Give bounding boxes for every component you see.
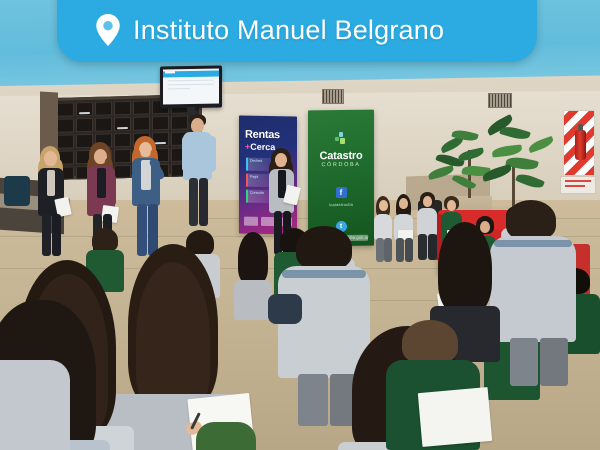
facebook-icon: f [336,187,347,198]
rollup-catastro-subtitle: CÓRDOBA [308,162,374,169]
event-photo: Rentas +Cerca Declará Pagá Consultá Cata… [0,0,600,450]
rollup-rentas-subtitle: +Cerca [245,143,275,153]
location-pin-icon [95,14,121,46]
wall-notice-sign [560,176,596,194]
monitor-screen-header [163,71,219,78]
rollup-catastro-handle: /catastrocba [308,202,374,208]
page-title: Instituto Manuel Belgrano [133,15,444,46]
wall-vent-right [488,93,512,108]
rollup-catastro-title: Catastro [308,150,374,163]
backpack [268,294,302,324]
left-chair [4,176,30,206]
wall-vent-center [322,89,344,104]
rollup-rentas-cerca: Cerca [250,142,275,152]
catastro-logo-icon [335,132,347,145]
location-title-banner: Instituto Manuel Belgrano [57,0,537,62]
screenshot-root: Rentas +Cerca Declará Pagá Consultá Cata… [0,0,600,450]
fire-extinguisher-icon [575,130,586,160]
wall-monitor [160,65,222,108]
rollup-rentas-title: Rentas [245,130,280,142]
notebook [418,387,492,447]
monitor-screen [163,69,219,105]
